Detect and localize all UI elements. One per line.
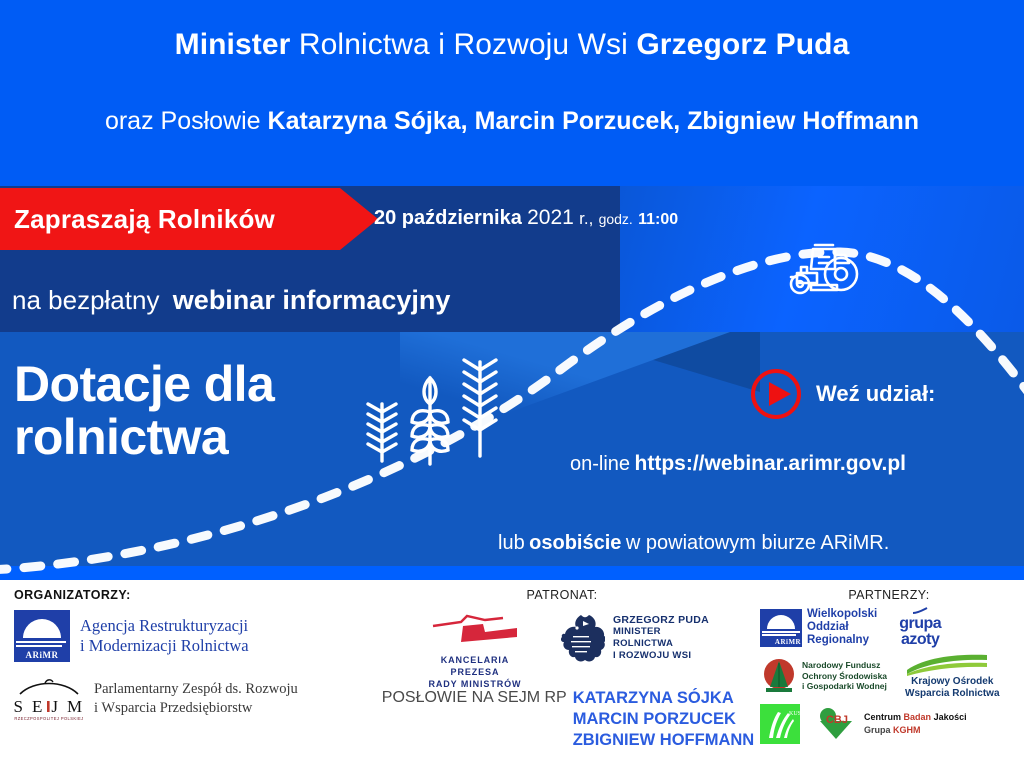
- inperson-strong: osobiście: [529, 532, 621, 554]
- wielkopolski-line-3: Regionalny: [807, 634, 877, 647]
- nfosigw-logo-icon: [760, 657, 798, 695]
- svg-text:KUS: KUS: [789, 711, 800, 717]
- kprm-logo: KANCELARIA PREZESA RADY MINISTRÓW: [415, 612, 535, 690]
- header-line-2: oraz Posłowie Katarzyna Sójka, Marcin Po…: [0, 105, 1024, 137]
- partner-grupa-azoty: grupa azoty: [899, 607, 941, 648]
- header-mps-names: Katarzyna Sójka, Marcin Porzucek, Zbigni…: [268, 107, 920, 135]
- wheat-icon: [352, 356, 512, 466]
- header-ministry-text: Rolnictwa i Rozwoju Wsi: [299, 28, 628, 61]
- arimr-regional-logo-caption: ARiMR: [760, 637, 802, 647]
- partners-heading: PARTNERZY:: [760, 588, 1018, 602]
- webinar-prefix: na bezpłatny: [12, 285, 159, 315]
- wielkopolski-line-1: Wielkopolski: [807, 608, 877, 621]
- cbj-logo-icon: CBJ: [816, 707, 860, 741]
- page-title-line-1: Dotacje dla: [14, 358, 274, 411]
- sejm-group-line-1: Parlamentarny Zespół ds. Rozwoju: [94, 680, 298, 699]
- cbj-line-2-a: Grupa: [864, 725, 891, 735]
- header-minister-word: Minister: [175, 28, 291, 61]
- mp-name-1: KATARZYNA SÓJKA: [573, 688, 754, 709]
- arimr-name-line-2: i Modernizacji Rolnictwa: [80, 636, 249, 656]
- kprm-flag-icon: [427, 612, 523, 646]
- kprm-line-1: KANCELARIA PREZESA: [415, 654, 535, 678]
- footer-partners: PARTNERZY: ARiMR Wielkopolski Oddział Re…: [760, 588, 1018, 748]
- header-line-1: Minister Rolnictwa i Rozwoju Wsi Grzegor…: [0, 26, 1024, 64]
- page-title-line-2: rolnictwa: [14, 411, 274, 464]
- wielkopolski-line-2: Oddział: [807, 621, 877, 634]
- organizer-arimr: ARiMR Agencja Restrukturyzacji i Moderni…: [14, 610, 364, 662]
- invite-ribbon: Zapraszają Rolników: [0, 188, 378, 250]
- event-date-daymonth: 20 października: [374, 207, 522, 229]
- mps-lead: POSŁOWIE NA SEJM RP: [382, 688, 567, 707]
- minister-line-2: ROLNICTWA: [613, 638, 709, 650]
- mp-name-3: ZBIGNIEW HOFFMANN: [573, 730, 754, 751]
- mps-row: POSŁOWIE NA SEJM RP KATARZYNA SÓJKA MARC…: [372, 688, 764, 751]
- header-mps-label: oraz Posłowie: [105, 107, 261, 135]
- footer-organizers: ORGANIZATORZY: ARiMR Agencja Restruktury…: [14, 588, 364, 724]
- join-cta-row[interactable]: Weź udział:: [750, 368, 935, 420]
- organizer-sejm: S E J M RZECZPOSPOLITEJ POLSKIEJ Parlame…: [14, 674, 364, 724]
- partner-cbj: CBJ Centrum Badan Jakości Grupa KGHM: [816, 707, 967, 741]
- online-prefix: on-line: [570, 453, 630, 475]
- partner-nfosigw: Narodowy Fundusz Ochrony Środowiska i Go…: [760, 657, 887, 695]
- event-date-year: 2021: [527, 206, 574, 229]
- footer-patronage: PATRONAT: KANCELARIA PREZESA RADY MINIST…: [372, 588, 752, 690]
- webinar-line: na bezpłatny webinar informacyjny: [12, 285, 450, 316]
- partners-row-2: Narodowy Fundusz Ochrony Środowiska i Go…: [760, 652, 1018, 700]
- cbj-line-2-b: KGHM: [893, 725, 921, 735]
- patronage-heading: PATRONAT:: [372, 588, 752, 602]
- mp-name-2: MARCIN PORZUCEK: [573, 709, 754, 730]
- poster-canvas: Minister Rolnictwa i Rozwoju Wsi Grzegor…: [0, 0, 1024, 768]
- minister-text: GRZEGORZ PUDA MINISTER ROLNICTWA I ROZWO…: [613, 614, 709, 662]
- minister-logo: GRZEGORZ PUDA MINISTER ROLNICTWA I ROZWO…: [557, 612, 709, 664]
- arimr-logo-icon: ARiMR: [14, 610, 70, 662]
- nfosigw-line-3: i Gospodarki Wodnej: [802, 681, 887, 692]
- invite-ribbon-label: Zapraszają Rolników: [0, 204, 275, 235]
- online-line[interactable]: on-line https://webinar.arimr.gov.pl: [570, 452, 906, 476]
- minister-name: GRZEGORZ PUDA: [613, 614, 709, 626]
- nfosigw-text: Narodowy Fundusz Ochrony Środowiska i Go…: [802, 660, 887, 692]
- event-date-line: 20 października 2021 r., godz. 11:00: [374, 206, 678, 230]
- header-minister-name: Grzegorz Puda: [636, 28, 849, 61]
- cbj-line-1-a: Centrum: [864, 712, 901, 722]
- cbj-line-1-c: Jakości: [934, 712, 967, 722]
- partners-row-3: KUS CBJ Centrum Badan Jakości: [760, 704, 1018, 744]
- kowr-waves-icon: [905, 652, 989, 676]
- mps-names: KATARZYNA SÓJKA MARCIN PORZUCEK ZBIGNIEW…: [573, 688, 754, 751]
- azoty-line-2: azoty: [899, 632, 941, 648]
- organizers-heading: ORGANIZATORZY:: [14, 588, 364, 602]
- nfosigw-line-1: Narodowy Fundusz: [802, 660, 887, 671]
- azoty-line-1: grupa: [899, 616, 941, 632]
- arimr-regional-logo-icon: ARiMR: [760, 609, 802, 647]
- tractor-icon: [783, 237, 865, 299]
- play-icon[interactable]: [750, 368, 802, 420]
- partner-wielkopolski: ARiMR Wielkopolski Oddział Regionalny: [760, 608, 877, 647]
- join-label: Weź udział:: [816, 381, 935, 407]
- event-time-label: godz.: [599, 211, 633, 227]
- event-time-value: 11:00: [638, 211, 678, 228]
- partner-kowr: Krajowy Ośrodek Wsparcia Rolnictwa: [905, 652, 999, 700]
- arimr-name: Agencja Restrukturyzacji i Modernizacji …: [80, 616, 249, 656]
- inperson-prefix: lub: [498, 532, 525, 554]
- partners-grid: ARiMR Wielkopolski Oddział Regionalny gr…: [760, 607, 1018, 744]
- kowr-line-2: Wsparcia Rolnictwa: [905, 688, 999, 700]
- webinar-url[interactable]: https://webinar.arimr.gov.pl: [635, 452, 907, 475]
- inperson-suffix: w powiatowym biurze ARiMR.: [626, 532, 889, 554]
- arimr-logo-caption: ARiMR: [14, 649, 70, 662]
- minister-line-1: MINISTER: [613, 626, 709, 638]
- webinar-strong: webinar informacyjny: [173, 285, 451, 315]
- inperson-line: lub osobiście w powiatowym biurze ARiMR.: [498, 532, 889, 555]
- kowr-text: Krajowy Ośrodek Wsparcia Rolnictwa: [905, 676, 999, 700]
- svg-text:RZECZPOSPOLITEJ POLSKIEJ: RZECZPOSPOLITEJ POLSKIEJ: [14, 716, 83, 721]
- polish-eagle-icon: [557, 612, 605, 664]
- cbj-logo-text: CBJ: [826, 714, 848, 726]
- kus-logo-icon: KUS: [760, 704, 800, 744]
- partners-row-1: ARiMR Wielkopolski Oddział Regionalny gr…: [760, 607, 1018, 648]
- kowr-line-1: Krajowy Ośrodek: [905, 676, 999, 688]
- wielkopolski-text: Wielkopolski Oddział Regionalny: [807, 608, 877, 647]
- sejm-group-name: Parlamentarny Zespół ds. Rozwoju i Wspar…: [94, 680, 298, 718]
- event-date-r: r.,: [579, 209, 593, 228]
- cbj-text: Centrum Badan Jakości Grupa KGHM: [864, 712, 967, 736]
- kprm-text: KANCELARIA PREZESA RADY MINISTRÓW: [415, 654, 535, 690]
- azoty-swoosh-icon: [912, 607, 928, 615]
- sejm-logo-icon: S E J M RZECZPOSPOLITEJ POLSKIEJ: [14, 674, 84, 724]
- minister-line-3: I ROZWOJU WSI: [613, 650, 709, 662]
- page-title: Dotacje dla rolnictwa: [14, 358, 274, 464]
- nfosigw-line-2: Ochrony Środowiska: [802, 671, 887, 682]
- patronage-logos: KANCELARIA PREZESA RADY MINISTRÓW: [372, 612, 752, 690]
- sejm-group-line-2: i Wsparcia Przedsiębiorstw: [94, 699, 298, 718]
- arimr-name-line-1: Agencja Restrukturyzacji: [80, 616, 249, 636]
- cbj-line-1-b: Badan: [904, 712, 932, 722]
